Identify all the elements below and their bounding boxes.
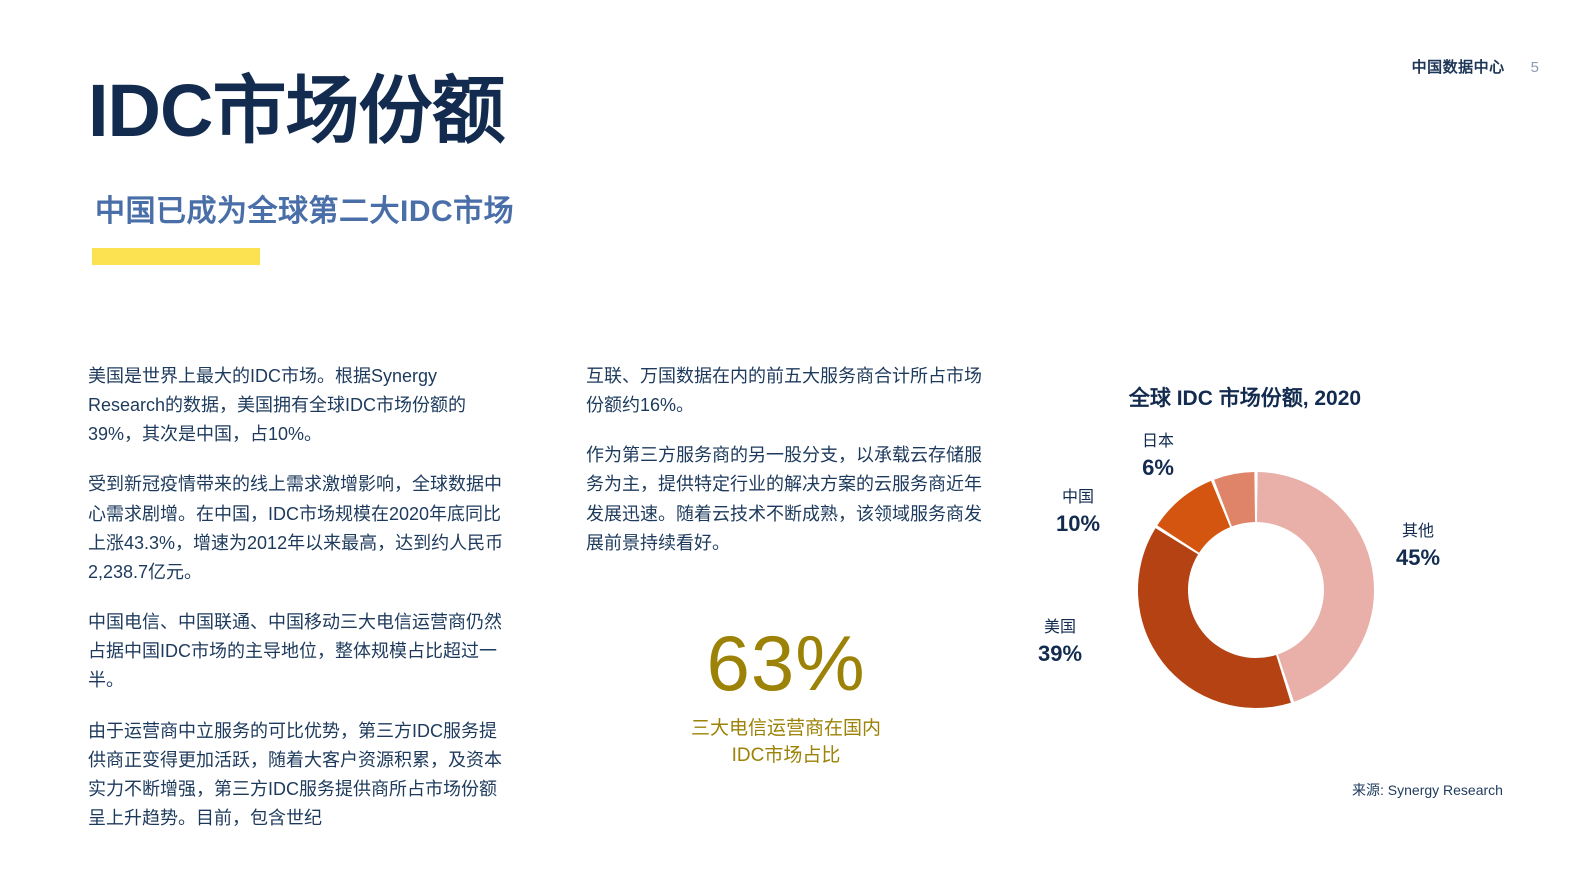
paragraph: 互联、万国数据在内的前五大服务商合计所占市场份额约16%。 — [586, 362, 986, 420]
chart-label-japan-value: 6% — [1118, 454, 1198, 482]
chart-label-us-name: 美国 — [1020, 618, 1100, 638]
statistic-caption: 三大电信运营商在国内 IDC市场占比 — [586, 716, 986, 770]
chart-label-china: 中国 10% — [1038, 488, 1118, 538]
header-label: 中国数据中心 — [1412, 56, 1505, 77]
paragraph: 由于运营商中立服务的可比优势，第三方IDC服务提供商正变得更加活跃，随着大客户资… — [88, 717, 506, 834]
chart-label-china-name: 中国 — [1038, 488, 1118, 508]
statistic-caption-line-1: 三大电信运营商在国内 — [691, 718, 881, 739]
paragraph: 中国电信、中国联通、中国移动三大电信运营商仍然占据中国IDC市场的主导地位，整体… — [88, 608, 506, 695]
page-title: IDC市场份额 — [88, 72, 504, 150]
highlight-statistic: 63% 三大电信运营商在国内 IDC市场占比 — [586, 624, 986, 770]
statistic-value: 63% — [586, 624, 986, 702]
chart-source: 来源: Synergy Research — [1352, 780, 1503, 800]
paragraph: 美国是世界上最大的IDC市场。根据Synergy Research的数据，美国拥… — [88, 362, 506, 449]
body-column-left: 美国是世界上最大的IDC市场。根据Synergy Research的数据，美国拥… — [88, 362, 506, 833]
chart-label-japan-name: 日本 — [1118, 432, 1198, 452]
slide: 中国数据中心 5 IDC市场份额 中国已成为全球第二大IDC市场 美国是世界上最… — [0, 0, 1587, 892]
chart-label-japan: 日本 6% — [1118, 432, 1198, 482]
accent-bar — [92, 248, 260, 265]
chart-label-other-name: 其他 — [1378, 522, 1458, 542]
chart-label-other-value: 45% — [1378, 544, 1458, 572]
paragraph: 作为第三方服务商的另一股分支，以承载云存储服务为主，提供特定行业的解决方案的云服… — [586, 441, 986, 558]
donut-chart — [1132, 466, 1380, 714]
slide-header: 中国数据中心 5 — [1412, 56, 1539, 77]
statistic-caption-line-2: IDC市场占比 — [732, 745, 841, 766]
chart-label-us: 美国 39% — [1020, 618, 1100, 668]
chart-label-other: 其他 45% — [1378, 522, 1458, 572]
paragraph: 受到新冠疫情带来的线上需求激增影响，全球数据中心需求剧增。在中国，IDC市场规模… — [88, 470, 506, 587]
chart-title: 全球 IDC 市场份额, 2020 — [1000, 382, 1490, 412]
chart-label-us-value: 39% — [1020, 640, 1100, 668]
market-share-chart: 全球 IDC 市场份额, 2020 日本 6% 中国 10% 美国 39% 其他… — [1000, 370, 1560, 830]
page-subtitle: 中国已成为全球第二大IDC市场 — [95, 186, 514, 230]
donut-slice-美国 — [1138, 528, 1291, 708]
chart-label-china-value: 10% — [1038, 510, 1118, 538]
body-column-middle: 互联、万国数据在内的前五大服务商合计所占市场份额约16%。 作为第三方服务商的另… — [586, 362, 986, 558]
page-number: 5 — [1531, 59, 1539, 76]
